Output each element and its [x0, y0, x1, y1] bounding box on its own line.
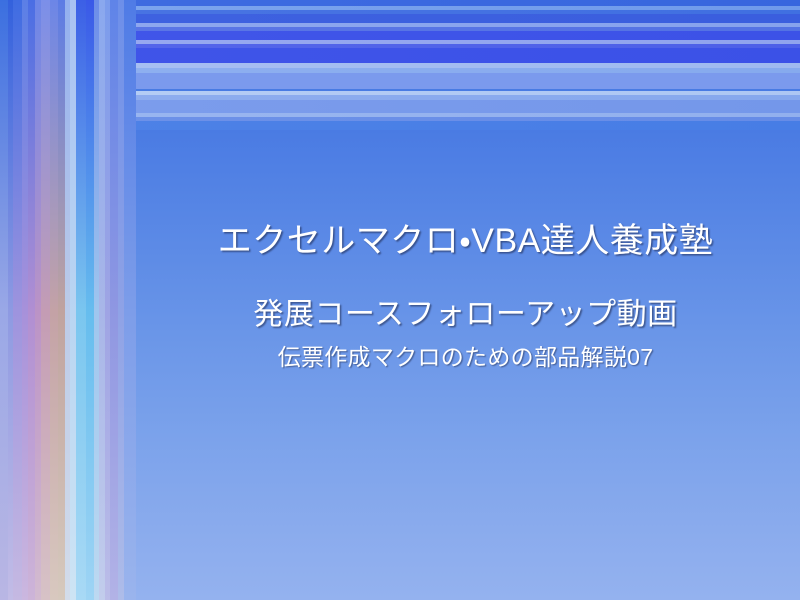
left-stripe: [0, 0, 8, 600]
left-stripe: [124, 0, 136, 600]
left-stripe: [13, 0, 22, 600]
slide-content-panel: [131, 130, 800, 600]
presentation-slide: エクセルマクロ・VBA達人養成塾 発展コースフォローアップ動画 伝票作成マクロの…: [0, 0, 800, 600]
left-stripe: [86, 0, 94, 600]
left-stripe: [41, 0, 50, 600]
left-stripe: [28, 0, 35, 600]
left-stripe: [58, 0, 65, 600]
left-stripe: [50, 0, 58, 600]
left-stripe: [110, 0, 118, 600]
left-stripe: [76, 0, 86, 600]
left-stripe-decoration: [0, 0, 136, 600]
